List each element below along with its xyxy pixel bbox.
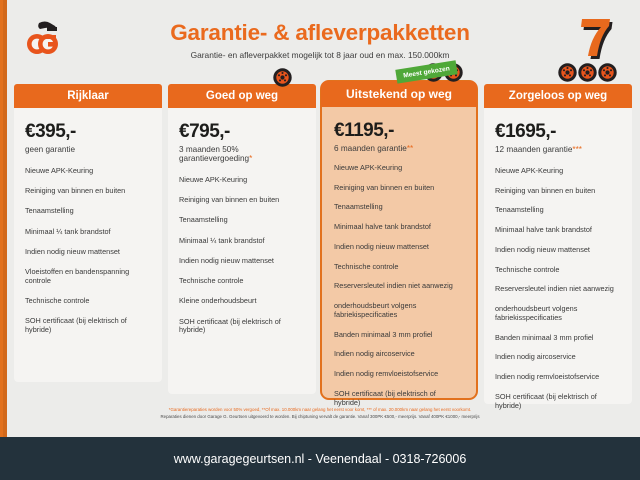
tire-icon (558, 63, 577, 82)
package-body: €795,- 3 maanden 50% garantievergoeding*… (168, 108, 316, 335)
number-seven-logo-icon (576, 14, 616, 62)
package-warranty-text: 3 maanden 50% garantievergoeding (179, 145, 249, 163)
feature-item: Indien nodig remvloeistofservice (495, 373, 621, 382)
feature-item: Nieuwe APK-Keuring (334, 164, 464, 173)
feature-item: Nieuwe APK-Keuring (179, 176, 305, 185)
footer-contact-text: www.garagegeurtsen.nl - Veenendaal - 031… (174, 452, 467, 466)
package-title: Rijklaar (14, 84, 162, 108)
package-title: Goed op weg (168, 84, 316, 108)
feature-item: Reserversleutel indien niet aanwezig (334, 282, 464, 291)
package-card-rijklaar[interactable]: Rijklaar €395,- geen garantie Nieuwe APK… (14, 84, 162, 382)
feature-item: Minimaal ¼ tank brandstof (179, 237, 305, 246)
feature-item: SOH certificaat (bij elektrisch of hybri… (25, 317, 151, 335)
package-columns: Rijklaar €395,- geen garantie Nieuwe APK… (0, 84, 640, 404)
feature-item: Technische controle (179, 277, 305, 286)
package-warranty-text: 12 maanden garantie (495, 145, 572, 154)
feature-item: Reiniging van binnen en buiten (179, 196, 305, 205)
feature-item: SOH certificaat (bij elektrisch of hybri… (334, 390, 464, 408)
package-warranty: 12 maanden garantie*** (495, 145, 621, 154)
package-warranty-text: 6 maanden garantie (334, 144, 407, 153)
feature-item: Indien nodig aircoservice (495, 353, 621, 362)
package-price: €795,- (179, 122, 305, 142)
feature-item: Tenaamstelling (179, 216, 305, 225)
feature-item: Banden minimaal 3 mm profiel (334, 331, 464, 340)
feature-list: Nieuwe APK-KeuringReiniging van binnen e… (25, 167, 151, 335)
feature-item: Nieuwe APK-Keuring (25, 167, 151, 176)
poster-header: Garantie- & afleverpakketten Garantie- e… (0, 0, 640, 72)
fineprint-line-1: *Garantiereparaties worden voor 50% verg… (0, 406, 640, 413)
feature-item: Minimaal halve tank brandstof (334, 223, 464, 232)
package-price: €1195,- (334, 121, 464, 141)
feature-item: onderhoudsbeurt volgens fabriekispecific… (334, 302, 464, 320)
package-body: €395,- geen garantie Nieuwe APK-KeuringR… (14, 108, 162, 335)
feature-item: Vloeistoffen en bandenspanning controle (25, 268, 151, 286)
package-title: Uitstekend op weg (321, 81, 477, 107)
package-warranty-text: geen garantie (25, 145, 75, 154)
footer-bar: www.garagegeurtsen.nl - Veenendaal - 031… (0, 437, 640, 480)
feature-item: Reiniging van binnen en buiten (334, 184, 464, 193)
legal-fineprint: *Garantiereparaties worden voor 50% verg… (0, 406, 640, 421)
feature-item: Minimaal ¼ tank brandstof (25, 228, 151, 237)
poster-canvas: Garantie- & afleverpakketten Garantie- e… (0, 0, 640, 480)
feature-item: onderhoudsbeurt volgens fabriekisspecifi… (495, 305, 621, 323)
feature-item: Indien nodig remvloeistofservice (334, 370, 464, 379)
feature-item: Indien nodig nieuw mattenset (495, 246, 621, 255)
feature-item: Minimaal halve tank brandstof (495, 226, 621, 235)
package-warranty-stars: * (249, 154, 252, 163)
feature-item: Nieuwe APK-Keuring (495, 167, 621, 176)
package-card-goed-op-weg[interactable]: Goed op weg €795,- 3 maanden 50% garanti… (168, 84, 316, 394)
fineprint-note-3: *** of max. 20.000km naar gelang het eer… (367, 407, 471, 412)
feature-list: Nieuwe APK-KeuringReiniging van binnen e… (495, 167, 621, 411)
page-title: Garantie- & afleverpakketten (0, 20, 640, 46)
feature-item: Tenaamstelling (495, 206, 621, 215)
feature-item: Indien nodig nieuw mattenset (334, 243, 464, 252)
tire-rating-goed-op-weg (273, 68, 292, 87)
feature-item: Indien nodig nieuw mattenset (25, 248, 151, 257)
feature-item: Banden minimaal 3 mm profiel (495, 334, 621, 343)
feature-item: Technische controle (334, 263, 464, 272)
feature-item: Technische controle (495, 266, 621, 275)
feature-list: Nieuwe APK-KeuringReiniging van binnen e… (179, 176, 305, 335)
feature-item: Technische controle (25, 297, 151, 306)
package-price: €395,- (25, 122, 151, 142)
tire-icon (273, 68, 292, 87)
feature-item: Reiniging van binnen en buiten (25, 187, 151, 196)
tire-icon (578, 63, 597, 82)
package-body: €1195,- 6 maanden garantie** Nieuwe APK-… (322, 107, 476, 407)
fineprint-note-2: **Of max. 10.000km naar gelang het eerst… (262, 407, 367, 412)
package-warranty: 6 maanden garantie** (334, 144, 464, 153)
package-warranty: geen garantie (25, 145, 151, 154)
feature-item: Indien nodig aircoservice (334, 350, 464, 359)
fineprint-line-2: Reparaties dienen door Garage G. Geurtse… (0, 413, 640, 420)
feature-item: Kleine onderhoudsbeurt (179, 297, 305, 306)
fineprint-note-1: *Garantiereparaties worden voor 50% verg… (169, 407, 262, 412)
feature-item: Tenaamstelling (334, 203, 464, 212)
tire-rating-zorgeloos-op-weg (558, 63, 617, 82)
package-body: €1695,- 12 maanden garantie*** Nieuwe AP… (484, 108, 632, 410)
feature-item: Indien nodig nieuw mattenset (179, 257, 305, 266)
package-price: €1695,- (495, 122, 621, 142)
package-warranty: 3 maanden 50% garantievergoeding* (179, 145, 305, 163)
tire-icon (598, 63, 617, 82)
package-card-uitstekend-op-weg[interactable]: Uitstekend op weg €1195,- 6 maanden gara… (320, 80, 478, 400)
package-title: Zorgeloos op weg (484, 84, 632, 108)
package-warranty-stars: ** (407, 144, 413, 153)
feature-list: Nieuwe APK-KeuringReiniging van binnen e… (334, 164, 464, 408)
package-warranty-stars: *** (572, 145, 582, 154)
page-subtitle: Garantie- en afleverpakket mogelijk tot … (0, 50, 640, 60)
package-card-zorgeloos-op-weg[interactable]: Zorgeloos op weg €1695,- 12 maanden gara… (484, 84, 632, 404)
feature-item: Reiniging van binnen en buiten (495, 187, 621, 196)
feature-item: Tenaamstelling (25, 207, 151, 216)
feature-item: SOH certificaat (bij elektrisch of hybri… (179, 318, 305, 336)
feature-item: Reserversleutel indien niet aanwezig (495, 285, 621, 294)
